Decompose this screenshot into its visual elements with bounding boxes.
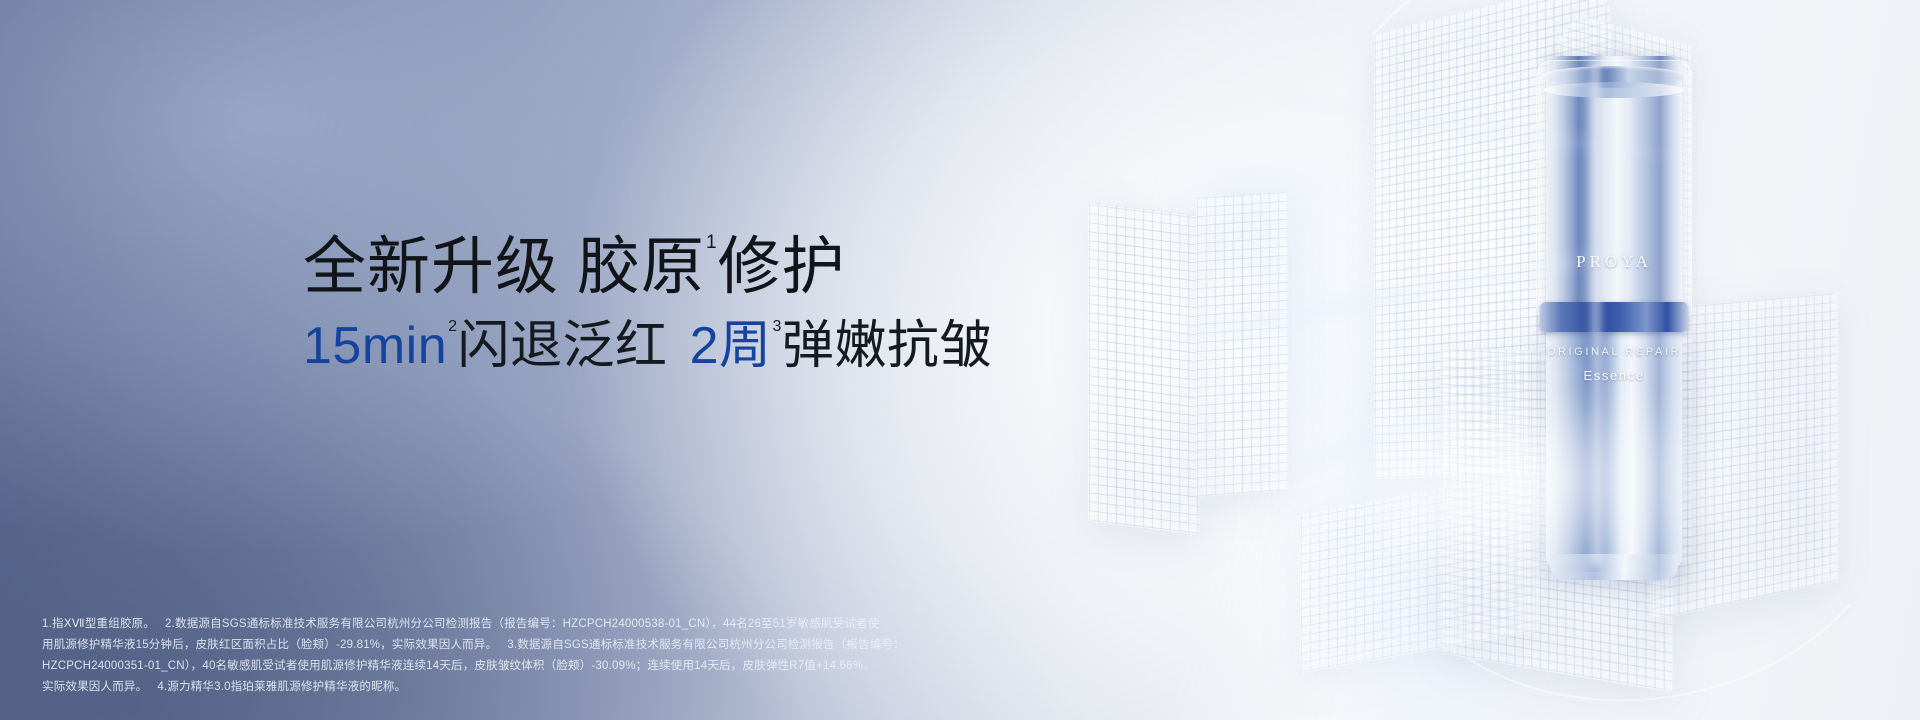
- footnote-1: 1.指ⅩⅦ型重组胶原。: [42, 618, 155, 630]
- footnote-3-start: 3.数据源自SGS通标标准技术服务有限公司杭州分公司检测报告（报告编号：: [507, 639, 905, 651]
- headline-footnote-marker: 1: [706, 232, 718, 253]
- subheadline: 15min2闪退泛红2周3弹嫩抗皱: [303, 320, 1063, 372]
- bottle-base: [1550, 554, 1678, 580]
- glass-panel-left: [1088, 201, 1200, 535]
- footnote-2-start: 2.数据源自SGS通标标准技术服务有限公司杭州分公司检测报告（报告编号：HZCP…: [165, 618, 880, 630]
- subhead-metric-2-text: 弹嫩抗皱: [782, 317, 992, 375]
- footnote-line-3: HZCPCH24000351-01_CN），40名敏感肌受试者使用肌源修护精华液…: [42, 656, 1102, 677]
- headline-part-1: 全新升级: [303, 232, 559, 302]
- bottle-specular-highlight: [1588, 64, 1604, 564]
- footnote-line-4: 实际效果因人而异。4.源力精华3.0指珀莱雅肌源修护精华液的昵称。: [42, 677, 1102, 698]
- footnote-2-end: 用肌源修护精华液15分钟后，皮肤红区面积占比（脸颊）-29.81%，实际效果因人…: [42, 639, 497, 651]
- headline: 全新升级胶原1修护: [303, 236, 1063, 299]
- footnote-line-2: 用肌源修护精华液15分钟后，皮肤红区面积占比（脸颊）-29.81%，实际效果因人…: [42, 635, 1102, 656]
- subhead-metric-2-marker: 3: [772, 318, 781, 335]
- subhead-metric-1-value: 15min: [303, 317, 447, 375]
- footnote-3-end: HZCPCH24000351-01_CN），40名敏感肌受试者使用肌源修护精华液…: [42, 660, 875, 672]
- footnote-4: 4.源力精华3.0指珀莱雅肌源修护精华液的昵称。: [157, 681, 406, 693]
- copy-block: 全新升级胶原1修护 15min2闪退泛红2周3弹嫩抗皱: [303, 236, 1063, 372]
- bottle-label-line1: ORIGINAL REPAIR: [1528, 346, 1700, 358]
- headline-part-2: 胶原: [577, 232, 705, 302]
- bottle-neck-band: [1540, 302, 1688, 332]
- banner-stage: PROYA ORIGINAL REPAIR Essence 全新升级胶原1修护 …: [0, 0, 1920, 720]
- footnotes: 1.指ⅩⅦ型重组胶原。2.数据源自SGS通标标准技术服务有限公司杭州分公司检测报…: [42, 614, 1102, 698]
- subhead-metric-1-marker: 2: [448, 318, 457, 335]
- product-bottle: PROYA ORIGINAL REPAIR Essence: [1528, 56, 1698, 576]
- headline-part-3: 修护: [718, 232, 846, 302]
- bottle-body: [1546, 328, 1682, 572]
- footnote-line-1: 1.指ⅩⅦ型重组胶原。2.数据源自SGS通标标准技术服务有限公司杭州分公司检测报…: [42, 614, 1102, 635]
- footnote-3-tail: 实际效果因人而异。: [42, 681, 147, 693]
- bottle-label-line2: Essence: [1528, 368, 1700, 383]
- subhead-metric-2-value: 2周: [690, 317, 772, 375]
- bottle-brand-text: PROYA: [1528, 252, 1700, 272]
- glass-panel-left-inner: [1196, 191, 1288, 497]
- subhead-metric-1-text: 闪退泛红: [458, 317, 668, 375]
- bottle-cap-glass-overlay: [1536, 60, 1692, 318]
